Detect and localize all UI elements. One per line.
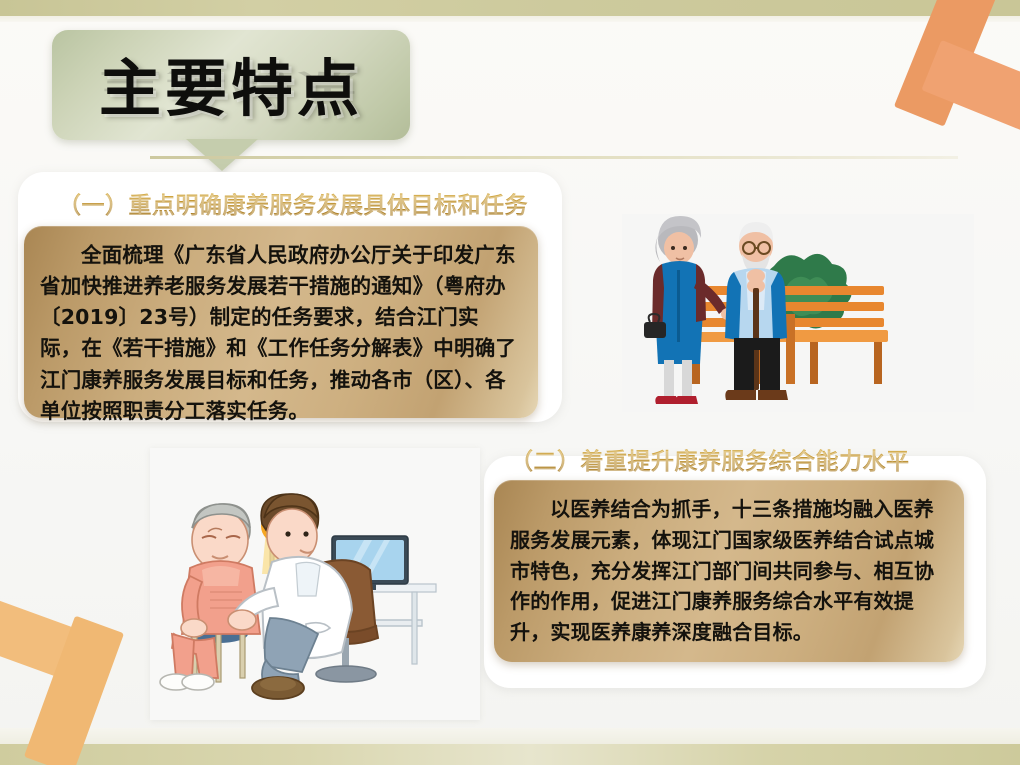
section-1-body-text: 全面梳理《广东省人民政府办公厅关于印发广东省加快推进养老服务发展若干措施的通知》…	[40, 240, 520, 427]
bottom-band-highlight	[0, 728, 1020, 744]
chevron-top-right-icon	[850, 0, 1020, 132]
section-1-body-box: 全面梳理《广东省人民政府办公厅关于印发广东省加快推进养老服务发展若干措施的通知》…	[24, 226, 538, 418]
bottom-olive-band	[0, 744, 1020, 765]
section-2-body-box: 以医养结合为抓手，十三条措施均融入医养服务发展元素，体现江门国家级医养结合试点城…	[494, 480, 964, 662]
section-2-heading: （二）着重提升康养服务综合能力水平	[510, 442, 910, 476]
header-divider	[150, 156, 958, 159]
elderly-couple-illustration	[622, 214, 974, 412]
title-banner-pointer	[186, 139, 258, 171]
chevron-bottom-left-icon	[0, 594, 138, 759]
elderly-couple-svg	[622, 214, 974, 412]
page-title: 主要特点	[52, 38, 410, 128]
clinic-illustration	[150, 448, 480, 720]
slide-canvas: 主要特点 主要特点 （一）重点明确康养服务发展具体目标和任务 全面梳理《广东省人…	[0, 0, 1020, 765]
doctor-patient-svg	[150, 448, 480, 720]
section-1-heading: （一）重点明确康养服务发展具体目标和任务	[58, 186, 528, 220]
section-2-body-text: 以医养结合为抓手，十三条措施均融入医养服务发展元素，体现江门国家级医养结合试点城…	[510, 494, 946, 648]
